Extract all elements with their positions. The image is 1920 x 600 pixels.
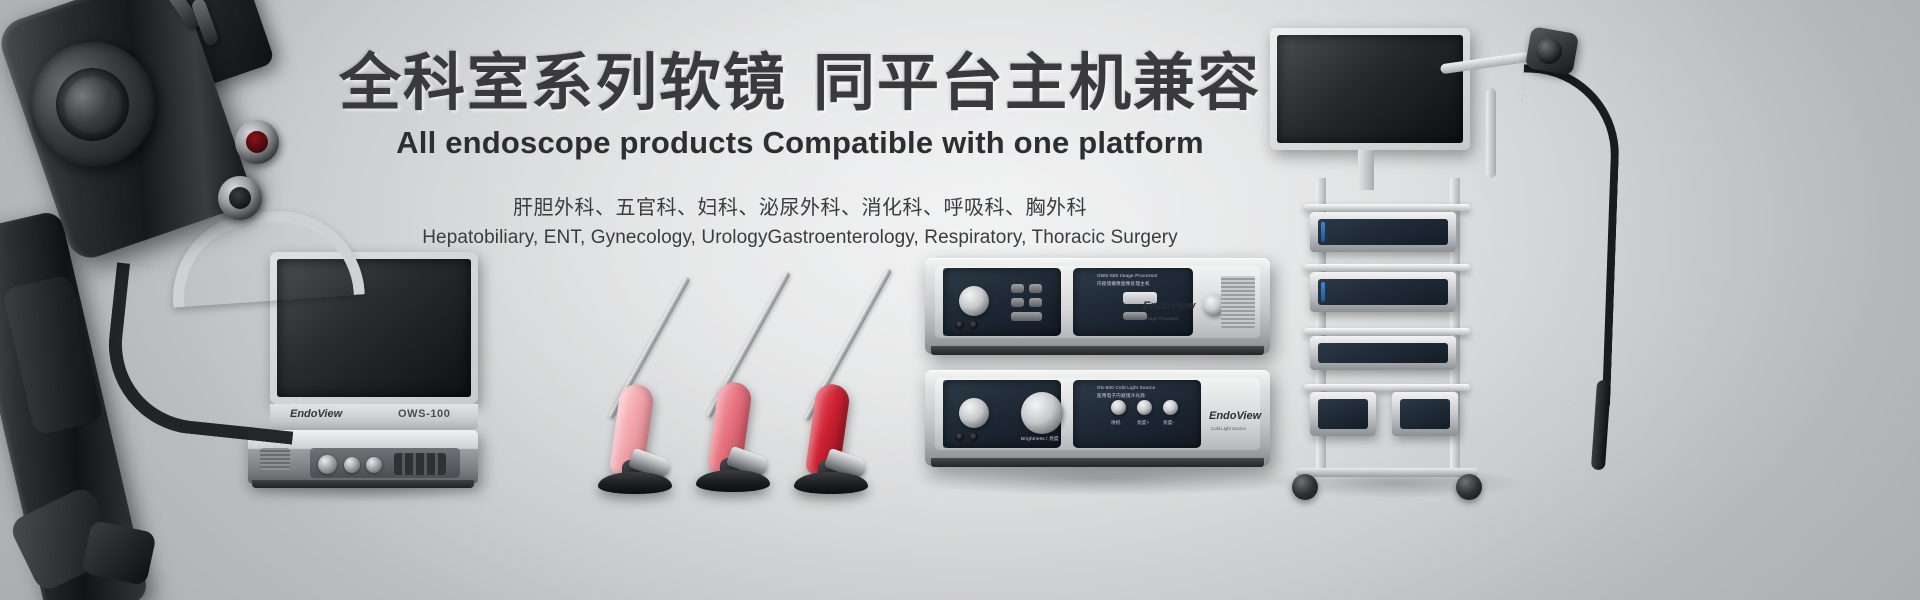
processor-title-en: OWS-650 Image Processor: [1097, 273, 1158, 278]
light-right-panel: [1073, 380, 1201, 448]
light-button-label-1: 待机: [1111, 420, 1121, 426]
processor-brand-label: EndoView: [1143, 300, 1195, 312]
camera-processor-unit: OWS-650 Image Processor 内窥镜摄像图像处理主机 Endo…: [925, 258, 1270, 354]
headline-part-1: 全科室系列软镜: [339, 49, 787, 118]
cart-unit-3: [1310, 336, 1456, 370]
light-dial-label: Brightness / 亮度: [1021, 436, 1059, 442]
cart-shelf-4: [1304, 384, 1470, 391]
banner-text-block: 全科室系列软镜同平台主机兼容 All endoscope products Co…: [0, 52, 1600, 249]
cart-wheel-left: [1292, 474, 1318, 500]
cart-unit-2-accent: [1321, 282, 1325, 302]
light-source-unit: OS-500 Cold Light Source 医用电子内窥镜冷光源 Brig…: [925, 370, 1270, 466]
processor-button-4: [1029, 298, 1042, 307]
light-port-1: [955, 432, 964, 441]
light-output-port: [959, 398, 989, 428]
processor-button-1: [1011, 284, 1024, 293]
page-title: 全科室系列软镜同平台主机兼容: [0, 52, 1600, 115]
headline-part-2: 同平台主机兼容: [813, 49, 1261, 118]
processor-title-cn: 内窥镜摄像图像处理主机: [1097, 281, 1150, 287]
processor-main-dial: [959, 286, 989, 316]
processor-port-2: [969, 320, 978, 329]
light-button-up: [1137, 400, 1152, 415]
light-port-2: [969, 432, 978, 441]
processor-button-5: [1011, 312, 1042, 321]
light-title-en: OS-500 Cold Light Source: [1097, 385, 1155, 390]
forceps-icon: [708, 248, 868, 490]
light-button-down: [1163, 400, 1178, 415]
cart-wheel-right: [1456, 474, 1482, 500]
cart-shelf-2: [1304, 264, 1470, 271]
light-button-label-2: 亮度+: [1137, 420, 1149, 426]
light-brand-label: EndoView: [1209, 410, 1261, 422]
specialties-chinese: 肝胆外科、五官科、妇科、泌尿外科、消化科、呼吸科、胸外科: [0, 191, 1600, 220]
light-button-label-3: 亮度-: [1163, 420, 1174, 426]
cart-unit-4: [1310, 392, 1376, 436]
processor-stack: OWS-650 Image Processor 内窥镜摄像图像处理主机 Endo…: [925, 258, 1270, 473]
processor-sub-label: Image Processor: [1145, 316, 1178, 321]
light-button-standby: [1111, 400, 1126, 415]
page-subtitle: All endoscope products Compatible with o…: [0, 125, 1600, 161]
processor-card-slot: [1123, 312, 1147, 320]
cart-base-bar: [1296, 468, 1478, 477]
cart-unit-5: [1392, 392, 1458, 436]
processor-button-2: [1029, 284, 1042, 293]
processor-feet: [931, 346, 1264, 355]
processor-button-3: [1011, 298, 1024, 307]
light-brightness-dial: [1021, 392, 1063, 434]
light-title-cn: 医用电子内窥镜冷光源: [1097, 393, 1145, 399]
processor-port-1: [955, 320, 964, 329]
forceps-stand: [794, 472, 868, 494]
light-sub-label: Cold Light Source: [1211, 426, 1246, 431]
product-banner: EndoView OWS-100: [0, 0, 1920, 600]
cart-unit-2: [1310, 272, 1456, 312]
processor-vent: [1221, 276, 1255, 328]
cart-shelf-3: [1304, 328, 1470, 335]
light-feet: [931, 458, 1264, 467]
specialties-english: Hepatobiliary, ENT, Gynecology, UrologyG…: [0, 227, 1600, 249]
